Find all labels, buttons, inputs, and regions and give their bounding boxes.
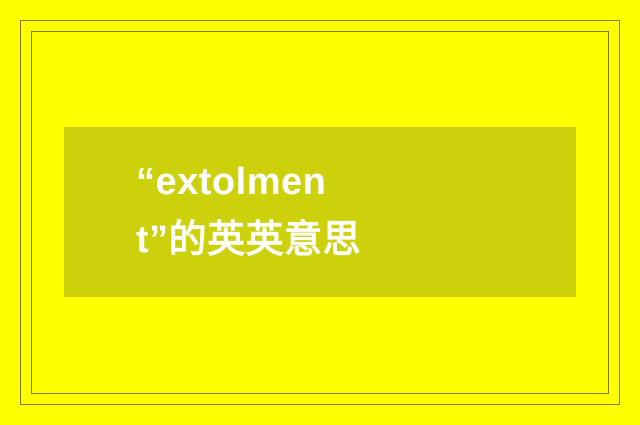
title-plate: “extolment”的英英意思 xyxy=(64,127,576,297)
page-title: “extolment”的英英意思 xyxy=(136,154,396,270)
page-canvas: “extolment”的英英意思 xyxy=(0,0,640,425)
